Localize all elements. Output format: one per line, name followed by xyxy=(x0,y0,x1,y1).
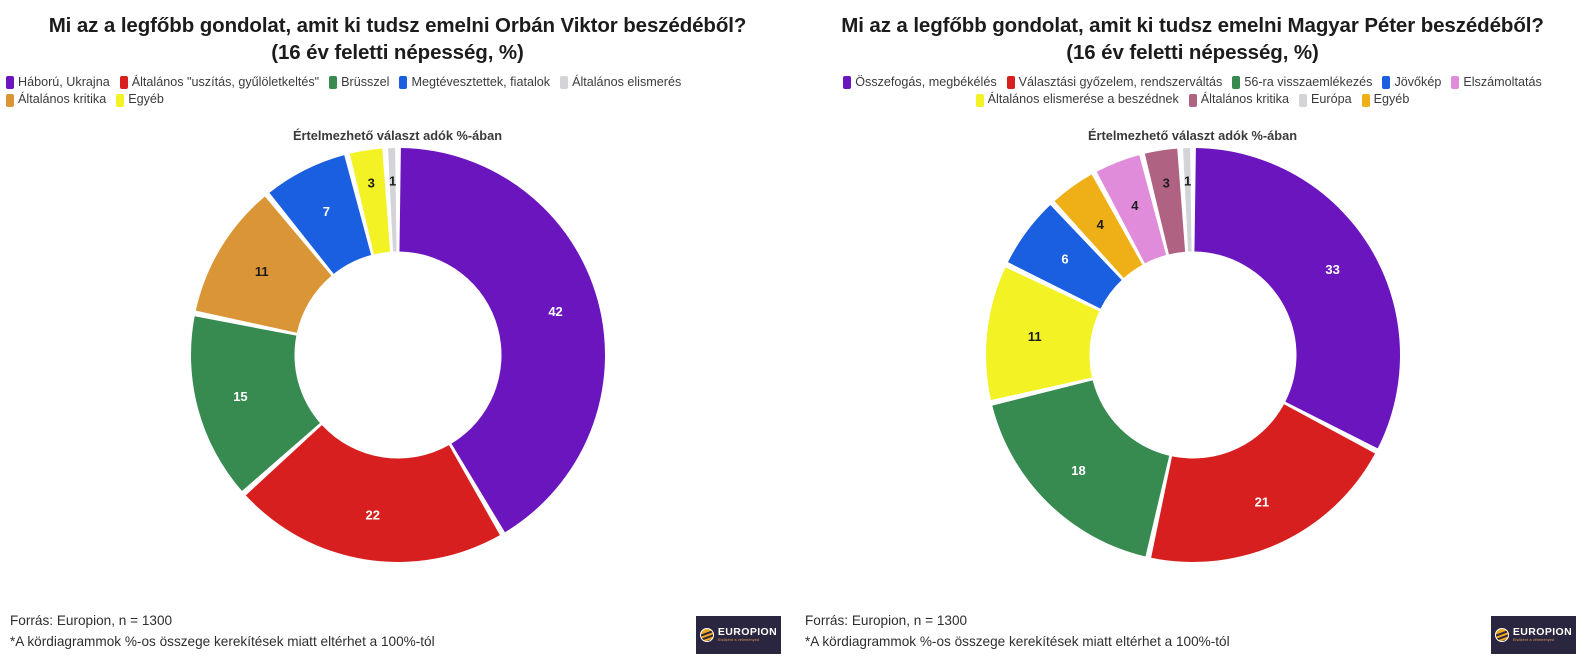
legend-label: Általános "uszítás, gyűlöletkeltés" xyxy=(132,75,319,90)
legend-label: Brüsszel xyxy=(341,75,389,90)
legend-swatch-icon xyxy=(399,76,407,89)
rounding-note: *A kördiagrammok %-os összege kerekítése… xyxy=(10,632,435,652)
slice-value-label: 11 xyxy=(1027,329,1041,344)
slice-value-label: 42 xyxy=(548,304,562,319)
logo-tagline: Elsőként a véleményed xyxy=(1513,639,1572,643)
logo-name: EUROPION xyxy=(1513,627,1572,638)
legend-item[interactable]: Háború, Ukrajna xyxy=(6,75,110,90)
legend-item[interactable]: Brüsszel xyxy=(329,75,389,90)
legend-label: Megtévesztettek, fiatalok xyxy=(411,75,550,90)
slice-value-label: 7 xyxy=(322,204,329,219)
europion-mark-icon xyxy=(700,628,714,642)
donut-slice[interactable] xyxy=(1183,148,1192,252)
legend-label: Egyéb xyxy=(1374,92,1410,107)
legend-swatch-icon xyxy=(1382,76,1390,89)
page-title: Mi az a legfőbb gondolat, amit ki tudsz … xyxy=(795,0,1590,66)
europion-logo: EUROPION Elsőként a véleményed xyxy=(1491,616,1576,654)
legend-label: Egyéb xyxy=(128,92,164,107)
donut-chart: 42221511731 xyxy=(188,145,608,565)
legend-swatch-icon xyxy=(329,76,337,89)
donut-slice[interactable] xyxy=(388,148,397,252)
page-title: Mi az a legfőbb gondolat, amit ki tudsz … xyxy=(0,0,795,66)
legend-swatch-icon xyxy=(1007,76,1015,89)
slice-value-label: 3 xyxy=(367,175,374,190)
legend-swatch-icon xyxy=(6,76,14,89)
donut-chart-container: 3321181164431 xyxy=(795,145,1590,565)
donut-chart: 3321181164431 xyxy=(983,145,1403,565)
logo-name: EUROPION xyxy=(718,627,777,638)
chart-footnote: Forrás: Europion, n = 1300 *A kördiagram… xyxy=(805,611,1230,652)
dual-donut-chart-board: Mi az a legfőbb gondolat, amit ki tudsz … xyxy=(0,0,1590,666)
slice-value-label: 4 xyxy=(1131,198,1139,213)
legend-item[interactable]: 56-ra visszaemlékezés xyxy=(1232,75,1372,90)
chart-subtitle: Értelmezhető választ adók %-ában xyxy=(0,128,795,143)
chart-subtitle: Értelmezhető választ adók %-ában xyxy=(795,128,1590,143)
legend-item[interactable]: Általános kritika xyxy=(6,92,106,107)
legend-swatch-icon xyxy=(120,76,128,89)
legend-item[interactable]: Egyéb xyxy=(1362,92,1410,107)
legend-label: Választási győzelem, rendszerváltás xyxy=(1019,75,1223,90)
logo-tagline: Elsőként a véleményed xyxy=(718,639,777,643)
legend-item[interactable]: Általános elismerése a beszédnek xyxy=(976,92,1179,107)
legend-swatch-icon xyxy=(976,94,984,107)
legend-label: Háború, Ukrajna xyxy=(18,75,110,90)
legend-swatch-icon xyxy=(1451,76,1459,89)
legend-swatch-icon xyxy=(6,94,14,107)
legend-label: Általános elismerés xyxy=(572,75,681,90)
chart-legend: Háború, UkrajnaÁltalános "uszítás, gyűlö… xyxy=(0,75,795,108)
legend-swatch-icon xyxy=(1299,94,1307,107)
donut-chart-container: 42221511731 xyxy=(0,145,795,565)
slice-value-label: 4 xyxy=(1096,217,1104,232)
legend-label: Általános kritika xyxy=(1201,92,1289,107)
legend-label: 56-ra visszaemlékezés xyxy=(1244,75,1372,90)
legend-item[interactable]: Általános "uszítás, gyűlöletkeltés" xyxy=(120,75,319,90)
legend-item[interactable]: Általános kritika xyxy=(1189,92,1289,107)
legend-label: Jövőkép xyxy=(1394,75,1441,90)
source-line: Forrás: Europion, n = 1300 xyxy=(805,611,1230,631)
legend-item[interactable]: Megtévesztettek, fiatalok xyxy=(399,75,550,90)
legend-item[interactable]: Elszámoltatás xyxy=(1451,75,1541,90)
europion-logo: EUROPION Elsőként a véleményed xyxy=(696,616,781,654)
slice-value-label: 21 xyxy=(1254,494,1268,509)
rounding-note: *A kördiagrammok %-os összege kerekítése… xyxy=(805,632,1230,652)
legend-swatch-icon xyxy=(1232,76,1240,89)
legend-swatch-icon xyxy=(843,76,851,89)
slice-value-label: 11 xyxy=(254,264,268,279)
slice-value-label: 1 xyxy=(1184,173,1191,188)
source-line: Forrás: Europion, n = 1300 xyxy=(10,611,435,631)
slice-value-label: 18 xyxy=(1071,463,1085,478)
legend-item[interactable]: Egyéb xyxy=(116,92,164,107)
slice-value-label: 3 xyxy=(1162,175,1169,190)
legend-item[interactable]: Jövőkép xyxy=(1382,75,1441,90)
legend-item[interactable]: Európa xyxy=(1299,92,1352,107)
chart-footnote: Forrás: Europion, n = 1300 *A kördiagram… xyxy=(10,611,435,652)
legend-label: Elszámoltatás xyxy=(1463,75,1541,90)
legend-label: Összefogás, megbékélés xyxy=(855,75,996,90)
donut-slice[interactable] xyxy=(1194,148,1400,448)
slice-value-label: 22 xyxy=(365,508,379,523)
legend-label: Európa xyxy=(1311,92,1352,107)
legend-swatch-icon xyxy=(1189,94,1197,107)
legend-swatch-icon xyxy=(1362,94,1370,107)
logo-text-block: EUROPION Elsőként a véleményed xyxy=(718,627,777,643)
legend-item[interactable]: Választási győzelem, rendszerváltás xyxy=(1007,75,1223,90)
europion-mark-icon xyxy=(1495,628,1509,642)
logo-text-block: EUROPION Elsőként a véleményed xyxy=(1513,627,1572,643)
chart-legend: Összefogás, megbékélésVálasztási győzele… xyxy=(795,75,1590,108)
chart-panel-orban-viktor: Mi az a legfőbb gondolat, amit ki tudsz … xyxy=(0,0,795,666)
legend-item[interactable]: Összefogás, megbékélés xyxy=(843,75,996,90)
slice-value-label: 33 xyxy=(1325,262,1339,277)
legend-label: Általános kritika xyxy=(18,92,106,107)
slice-value-label: 1 xyxy=(389,173,396,188)
chart-panel-magyar-peter: Mi az a legfőbb gondolat, amit ki tudsz … xyxy=(795,0,1590,666)
legend-item[interactable]: Általános elismerés xyxy=(560,75,681,90)
slice-value-label: 15 xyxy=(233,389,247,404)
slice-value-label: 6 xyxy=(1061,251,1068,266)
legend-swatch-icon xyxy=(116,94,124,107)
legend-label: Általános elismerése a beszédnek xyxy=(988,92,1179,107)
legend-swatch-icon xyxy=(560,76,568,89)
